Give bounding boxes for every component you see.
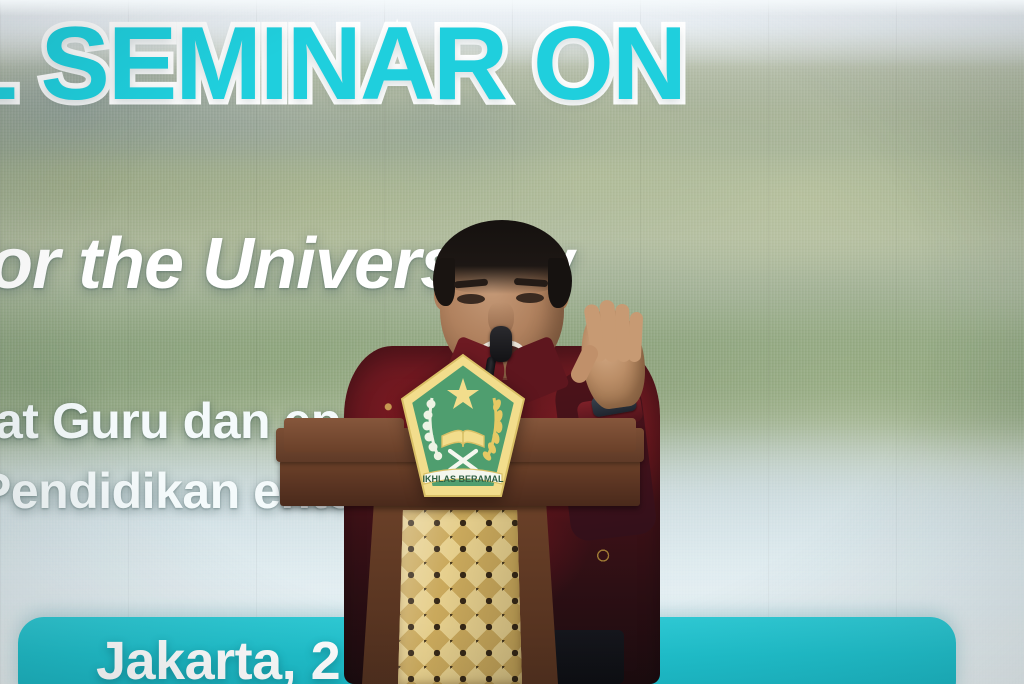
emblem-motto-text: IKHLAS BERAMAL	[423, 474, 504, 484]
photo-vignette	[0, 0, 1024, 684]
kemenag-emblem-icon: IKHLAS BERAMAL	[398, 352, 528, 504]
event-photo: L SEMINAR ON for the Universe w orat Gur…	[0, 0, 1024, 684]
photo-top-highlight	[0, 0, 1024, 16]
